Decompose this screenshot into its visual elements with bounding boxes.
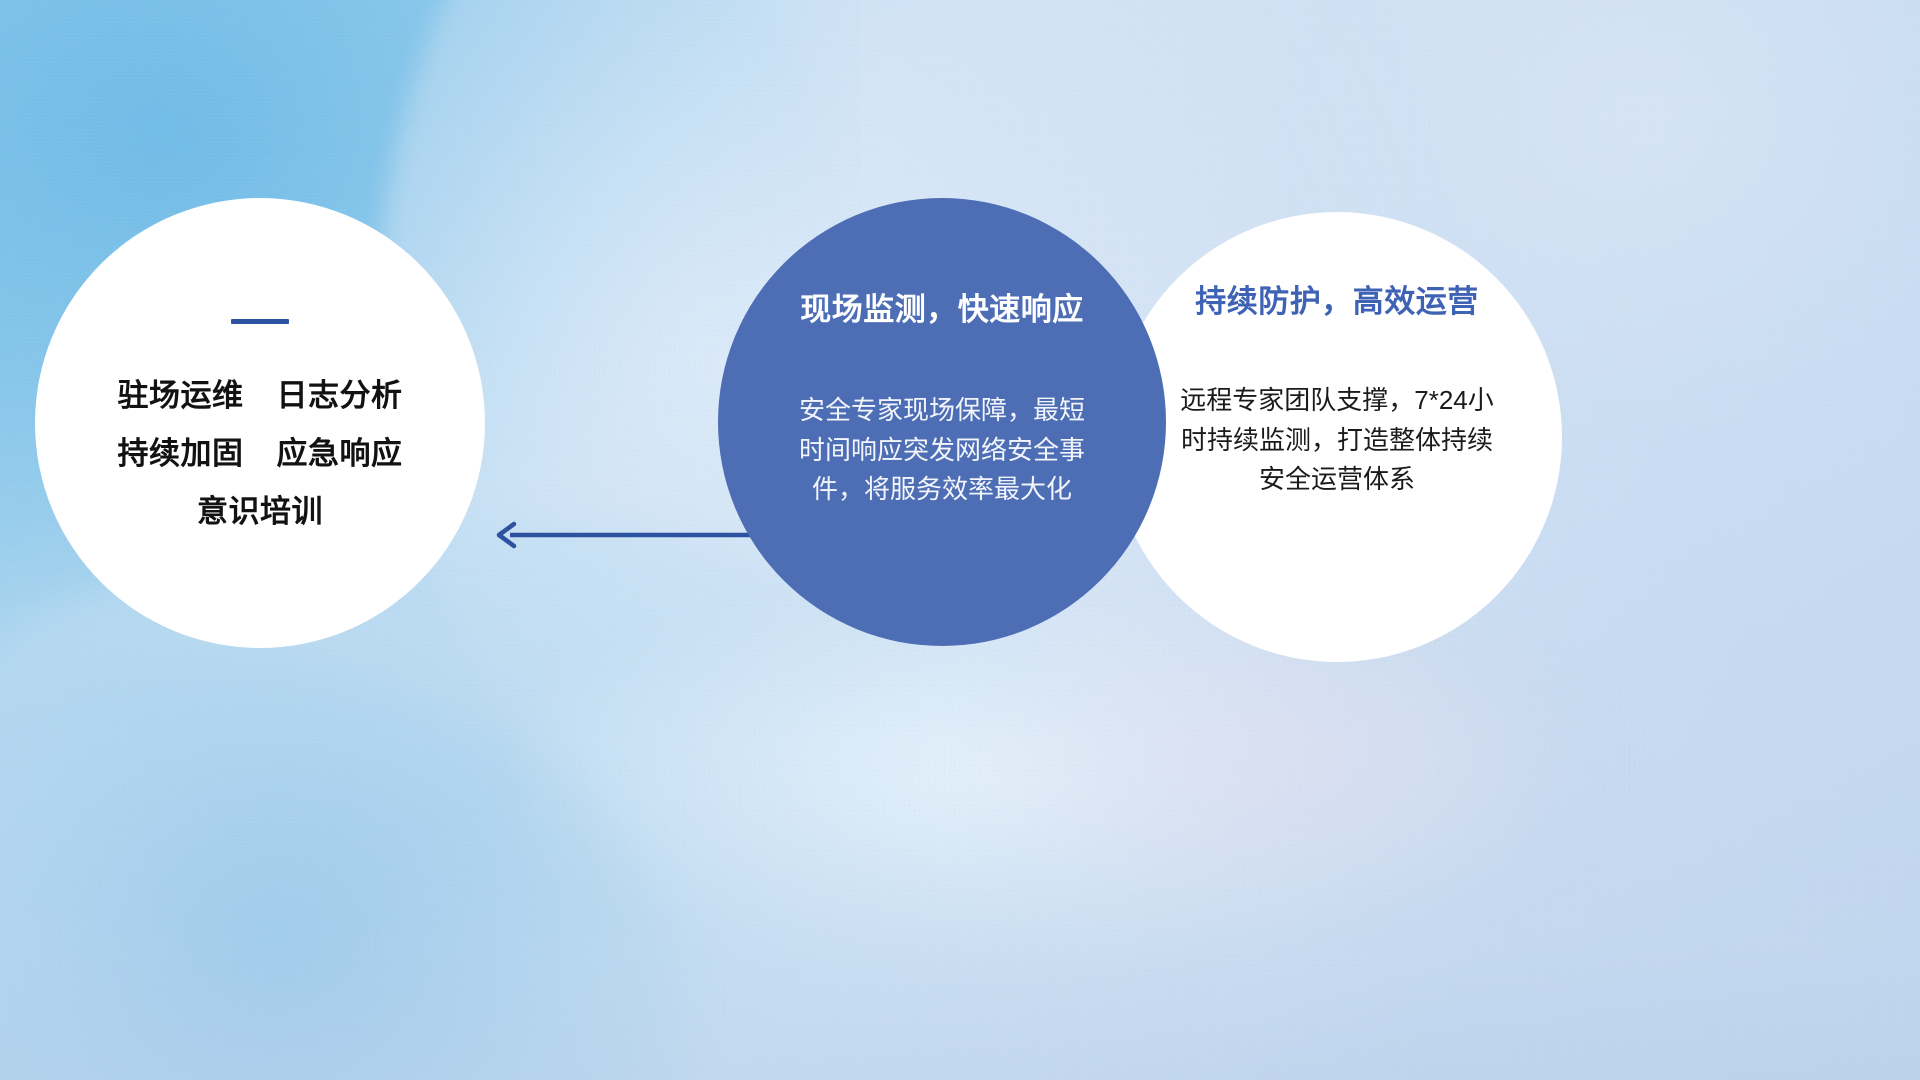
capability-row: 驻场运维 日志分析 xyxy=(118,380,403,411)
circle-body: 安全专家现场保障，最短时间响应突发网络安全事件，将服务效率最大化 xyxy=(794,391,1090,510)
capability-item: 意识培训 xyxy=(197,496,323,527)
capability-item: 应急响应 xyxy=(277,438,403,469)
onsite-monitoring-circle[interactable]: 现场监测，快速响应 安全专家现场保障，最短时间响应突发网络安全事件，将服务效率最… xyxy=(718,198,1166,646)
capability-item: 持续加固 xyxy=(118,438,244,469)
circle-title: 现场监测，快速响应 xyxy=(800,284,1084,329)
capability-row: 意识培训 xyxy=(197,496,323,527)
divider-dash xyxy=(231,319,289,324)
capability-item: 驻场运维 xyxy=(118,380,244,411)
arrow-left-icon xyxy=(499,524,768,546)
capability-item: 日志分析 xyxy=(277,380,403,411)
capabilities-circle[interactable]: 驻场运维 日志分析 持续加固 应急响应 意识培训 xyxy=(35,198,485,648)
circle-title: 持续防护，高效运营 xyxy=(1195,276,1479,321)
arrow-middle-to-left xyxy=(480,520,770,550)
circle-body: 远程专家团队支撑，7*24小时持续监测，打造整体持续安全运营体系 xyxy=(1172,381,1502,500)
continuous-protection-circle[interactable]: 持续防护，高效运营 远程专家团队支撑，7*24小时持续监测，打造整体持续安全运营… xyxy=(1112,212,1562,662)
capability-row: 持续加固 应急响应 xyxy=(118,438,403,469)
